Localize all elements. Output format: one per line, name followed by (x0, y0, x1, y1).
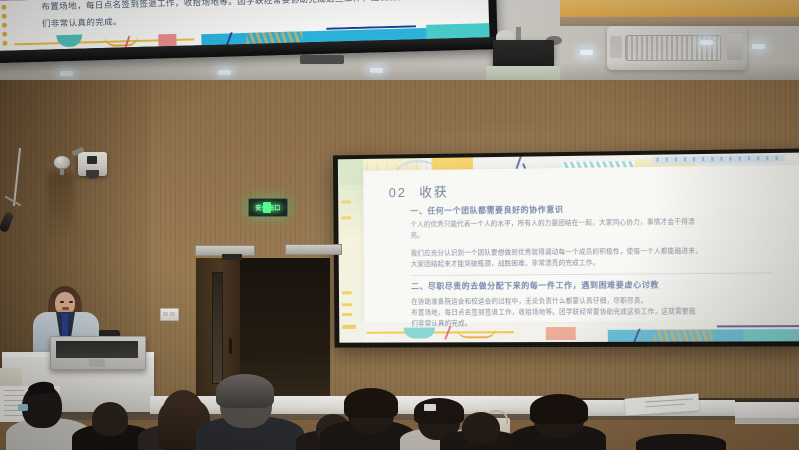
slide-section-title: 收获 (419, 185, 449, 200)
projection-screen-frame: 02 收获 一、任何一个团队都需要良好的协作意识 个人的优秀只能代表一个人的水平… (333, 148, 799, 347)
slide-bottom-decoration (339, 321, 799, 343)
paper-text-lines (4, 390, 24, 416)
presenter-eye-left (60, 301, 64, 303)
wall-device-shadow (48, 172, 74, 242)
slide-accent-dash (342, 291, 352, 294)
door-header-panel (285, 244, 342, 255)
projector-mount-plate (486, 66, 560, 80)
slide-title: 02 收获 (389, 182, 449, 202)
wall-camera-icon (78, 152, 107, 176)
tv-ceiling-mount (300, 55, 344, 64)
ceiling-downlight (700, 40, 713, 45)
ceiling-projector (493, 40, 554, 69)
door-closer (222, 254, 242, 260)
slide-heading-1: 一、任何一个团队都需要良好的协作意识 (410, 204, 563, 217)
slide-left-strip (338, 185, 365, 328)
ceiling-downlight (580, 50, 593, 55)
audience-head (462, 412, 500, 444)
audience-head (92, 402, 128, 436)
presenter-eye-right (69, 301, 73, 303)
tv-slide-line-2: 们非常认真的完成。 (42, 15, 122, 29)
audience-hair (216, 374, 274, 408)
ac-side-vent-right (727, 34, 743, 60)
ceiling-beam (560, 17, 799, 26)
wall-speaker-stem (60, 168, 64, 175)
camera-lens-icon (87, 156, 97, 164)
emergency-exit-sign: 安全出口 (248, 198, 288, 217)
slide-section-number: 02 (389, 185, 407, 200)
slide-accent-dash (342, 303, 352, 306)
running-man-icon (263, 202, 271, 213)
ac-side-vent-left (610, 36, 622, 58)
camera-dome (86, 170, 99, 179)
ceiling-downlight (752, 44, 765, 49)
slide-accent-dash (341, 201, 351, 204)
face-mask (18, 404, 28, 411)
slide-accent-dash (342, 313, 352, 316)
hair-clip (424, 404, 436, 411)
lecture-hall-photo: 布置场地，每日点名签到签退工作，收拾场地等。团学联经常要协助完成这些工作，这就需… (0, 0, 799, 450)
presenter-lanyard (62, 314, 68, 338)
podium-monitor[interactable] (50, 336, 146, 370)
ac-grille (625, 35, 721, 61)
podium-monitor-stand (89, 359, 105, 367)
slide-accent-dash (341, 216, 351, 219)
wall-light-switch[interactable] (160, 308, 179, 321)
podium-monitor-screen (56, 341, 138, 358)
audience-hair (344, 388, 398, 418)
desk-edge (735, 418, 799, 423)
slide-heading-2: 二、尽职尽责的去做分配下来的每一件工作，遇到困难要虚心讨教 (411, 279, 659, 292)
door-handle-icon[interactable] (229, 338, 232, 354)
tv-slide-line-1: 布置场地，每日点名签到签退工作，收拾场地等。团学联经常要协助完成这些工作，这就需… (41, 0, 415, 13)
audience-shoulders (636, 434, 726, 450)
audience-hair (414, 398, 464, 424)
projection-screen: 02 收获 一、任何一个团队都需要良好的协作意识 个人的优秀只能代表一个人的水平… (338, 153, 799, 343)
door-glass-panel (212, 272, 223, 384)
audience-hair (530, 394, 588, 424)
